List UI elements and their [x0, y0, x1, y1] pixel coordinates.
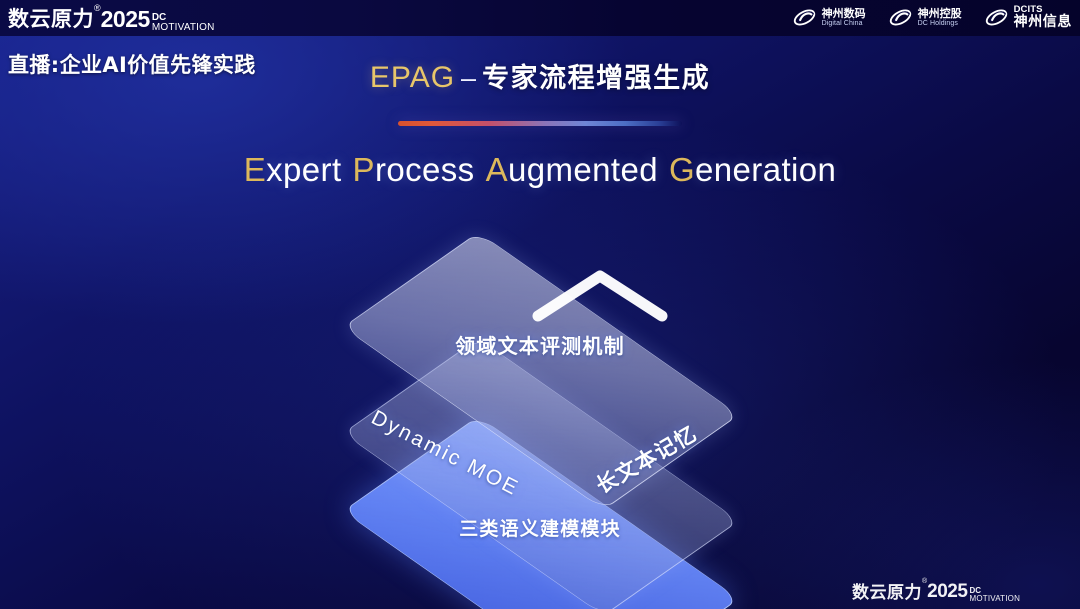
swirl-icon — [888, 5, 913, 30]
footer-brand-cn: 数云原力 — [852, 578, 922, 603]
rest-process: rocess — [375, 151, 475, 188]
partner-name-cn: 神州数码 — [822, 8, 866, 20]
partner-logo-dc-holdings: 神州控股 DC Holdings — [888, 5, 962, 30]
brand-logo-cn: 数云原力 — [8, 3, 94, 33]
footer-brand-motivation: MOTIVATION — [969, 595, 1020, 603]
headline-dash: – — [455, 63, 482, 93]
footer-brand-tagline: DC MOTIVATION — [969, 587, 1020, 603]
brand-logo-motivation: MOTIVATION — [152, 23, 215, 33]
initial-p: P — [353, 151, 375, 188]
partner-logos: 神州数码 Digital China 神州控股 DC Holdings — [792, 5, 1072, 30]
subheadline-word-generation: Generation — [669, 151, 836, 188]
partner-logo-dcits: DCITS 神州信息 — [984, 5, 1072, 30]
partner-text: 神州数码 Digital China — [822, 8, 866, 27]
layered-stack-diagram: 领域文本评测机制 Dynamic MOE 长文本记忆 三类语义建模模块 — [300, 226, 780, 576]
brand-logo: 数云原力 ® 2025 DC MOTIVATION — [8, 3, 215, 33]
subheadline-word-augmented: Augmented — [486, 151, 658, 188]
swirl-icon — [984, 5, 1009, 30]
partner-name-cn: 神州信息 — [1014, 15, 1072, 30]
footer-brand-logo: 数云原力 ® 2025 DC MOTIVATION — [852, 578, 1020, 603]
swirl-icon — [792, 5, 817, 30]
rest-generation: eneration — [695, 151, 836, 188]
headline: EPAG–专家流程增强生成 — [0, 56, 1080, 95]
stack-label-top: 领域文本评测机制 — [300, 330, 780, 359]
rest-augmented: ugmented — [508, 151, 658, 188]
gradient-divider — [398, 121, 682, 126]
partner-name-cn: 神州控股 — [918, 8, 962, 20]
brand-logo-registered: ® — [94, 3, 101, 13]
partner-logo-digital-china: 神州数码 Digital China — [792, 5, 866, 30]
rest-expert: xpert — [266, 151, 341, 188]
partner-name-en: DC Holdings — [918, 20, 962, 28]
slide-canvas: 数云原力 ® 2025 DC MOTIVATION 神州数码 Digital C… — [0, 0, 1080, 609]
stack-label-bottom: 三类语义建模模块 — [300, 514, 780, 541]
headline-chinese: 专家流程增强生成 — [482, 63, 710, 94]
initial-a: A — [486, 151, 508, 188]
partner-text: DCITS 神州信息 — [1014, 5, 1072, 30]
partner-text: 神州控股 DC Holdings — [918, 8, 962, 27]
footer-brand-year: 2025 — [927, 581, 967, 603]
subheadline-word-expert: Expert — [244, 151, 342, 188]
initial-g: G — [669, 151, 695, 188]
partner-name-en: Digital China — [822, 20, 866, 28]
chevron-up-icon — [532, 266, 668, 324]
subheadline-word-process: Process — [353, 151, 475, 188]
subheadline: ExpertProcessAugmentedGeneration — [0, 151, 1080, 189]
brand-logo-year: 2025 — [101, 6, 150, 33]
headline-acronym: EPAG — [370, 61, 455, 94]
brand-logo-tagline: DC MOTIVATION — [152, 13, 215, 33]
initial-e: E — [244, 151, 266, 188]
